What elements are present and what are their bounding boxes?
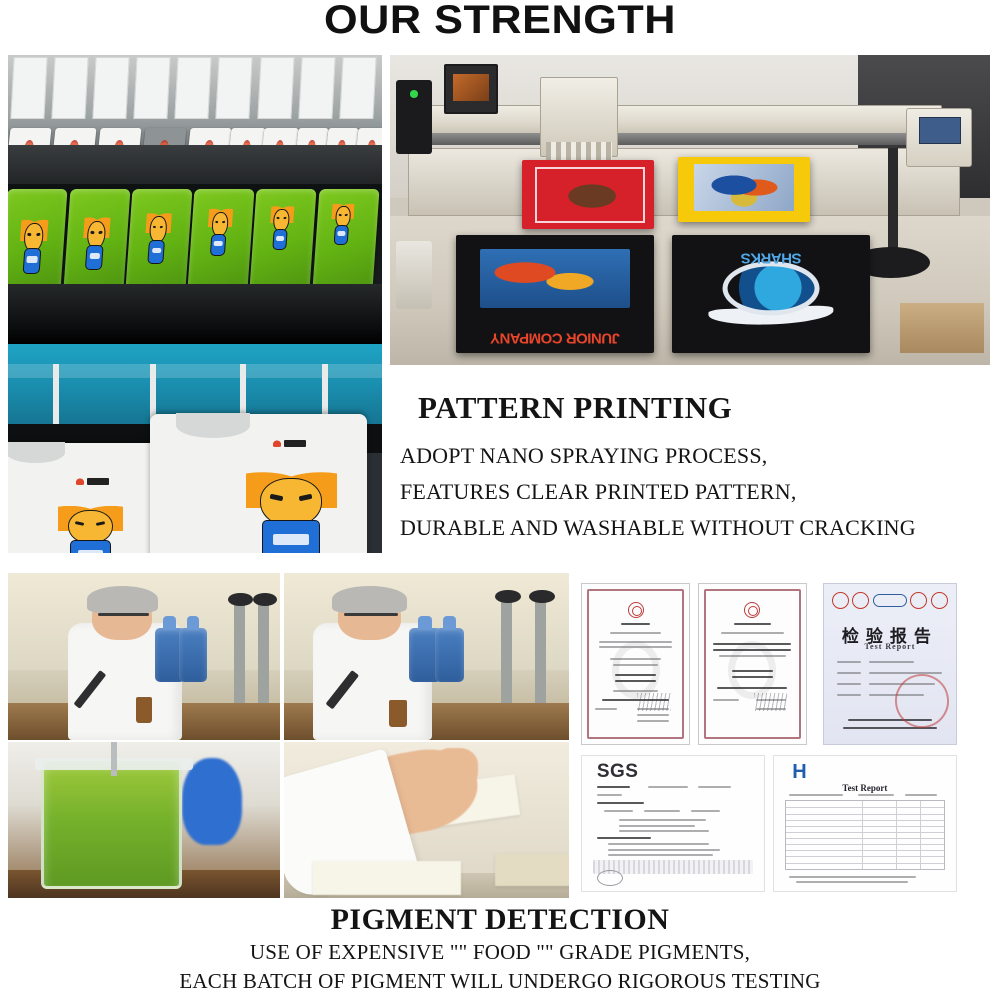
bull-mascot-print <box>143 207 172 265</box>
conveyor-rail-mid <box>8 284 382 344</box>
lab-stand <box>535 596 546 703</box>
pattern-printing-text-block: PATTERN PRINTING ADOPT NANO SPRAYING PRO… <box>400 390 1000 546</box>
accreditation-logos <box>832 592 948 609</box>
green-platen <box>8 189 68 290</box>
lab-photo-right <box>284 573 569 740</box>
brand-logo-print <box>75 477 109 485</box>
operator-tablet-screen <box>444 64 498 114</box>
test-results-table <box>785 800 945 870</box>
green-platen <box>312 189 379 290</box>
dtg-printer-photo: JUNIOR COMPANY SHARKS <box>390 55 990 365</box>
iso-certificate-en <box>698 583 806 746</box>
pigment-detection-heading: PIGMENT DETECTION <box>0 902 1000 938</box>
technician-hair <box>332 586 406 613</box>
report-title-en: Test Report <box>824 642 955 651</box>
green-platen <box>188 189 255 290</box>
blue-equipment-blur <box>182 758 242 845</box>
lab-test-report-h: H Test Report <box>773 755 956 892</box>
lab-photo-left <box>8 573 280 740</box>
eyeglasses-icon <box>344 613 398 616</box>
ink-bucket <box>396 241 432 309</box>
printer-lcd-panel <box>906 108 972 167</box>
sgs-test-report: SGS <box>581 755 764 892</box>
finger <box>432 748 478 789</box>
sample-bottle <box>389 700 406 727</box>
sharks-text: SHARKS <box>705 250 836 267</box>
pigment-detection-text-block: PIGMENT DETECTION USE OF EXPENSIVE "" FO… <box>0 902 1000 996</box>
junior-company-text: JUNIOR COMPANY <box>476 315 634 346</box>
junior-company-artwork <box>480 249 630 308</box>
cal-logo-icon <box>931 592 948 609</box>
stirring-rod <box>111 742 117 776</box>
stand-pole <box>888 148 898 253</box>
fabric-stack <box>495 854 569 885</box>
glass-beaker-with-green-pigment <box>41 761 182 889</box>
quality-certificates-panel: 检验报告 Test Report SGS <box>573 573 990 898</box>
lab-mixer-motor <box>435 628 464 681</box>
control-box <box>396 80 432 154</box>
fabric-stack <box>313 861 461 895</box>
bull-mascot-print <box>58 498 123 553</box>
iso-certificate-cn <box>581 583 689 746</box>
h-lab-logo: H <box>792 761 806 784</box>
stand-knob <box>495 590 521 603</box>
lab-stand <box>501 596 512 703</box>
bull-mascot-print <box>80 211 111 271</box>
cardboard-box <box>900 303 984 353</box>
official-red-stamp-icon <box>890 669 954 733</box>
green-platen-row <box>8 184 382 294</box>
pigment-detection-line-2: EACH BATCH OF PIGMENT WILL UNDERGO RIGOR… <box>0 967 1000 996</box>
stand-knob <box>529 590 555 603</box>
cma-logo-icon <box>910 592 927 609</box>
bull-mascot-print <box>18 213 50 275</box>
printed-shirt-red <box>522 160 654 228</box>
lab-stand <box>234 600 245 704</box>
printer-rail <box>420 133 936 145</box>
printed-shirt-junior-company: JUNIOR COMPANY <box>456 235 654 353</box>
lab-stand <box>258 600 269 704</box>
bull-mascot-print <box>206 203 234 257</box>
pattern-printing-heading: PATTERN PRINTING <box>418 390 1000 426</box>
eyeglasses-icon <box>98 613 150 616</box>
green-platen <box>250 189 317 290</box>
printed-shirt-front <box>8 443 158 553</box>
certification-seal-icon <box>628 602 644 618</box>
page-title: OUR STRENGTH <box>0 0 1000 42</box>
technician-hair <box>87 586 158 613</box>
sgs-seal-icon <box>597 870 623 886</box>
cqc-logo-icon <box>832 592 849 609</box>
bull-mascot-print <box>246 461 337 553</box>
our-strength-page: OUR STRENGTH <box>0 0 1000 1000</box>
brand-logo-print <box>272 439 306 447</box>
printed-shirt-front <box>150 414 367 553</box>
inspection-test-report-cn: 检验报告 Test Report <box>823 583 956 746</box>
bull-mascot-print <box>330 199 355 245</box>
pigment-beaker-photo <box>8 742 280 898</box>
pattern-printing-line-3: DURABLE AND WASHABLE WITHOUT CRACKING <box>400 510 1000 546</box>
production-line-photo <box>8 55 382 553</box>
h-report-title: Test Report <box>774 783 955 793</box>
bull-mascot-print <box>268 201 294 251</box>
cnas-logo-icon <box>873 594 907 607</box>
printed-shirt-sharks: SHARKS <box>672 235 870 353</box>
lab-mixer-motor <box>179 628 206 681</box>
green-platen <box>125 189 192 290</box>
sgs-logo: SGS <box>597 761 639 783</box>
pigment-detection-line-1: USE OF EXPENSIVE "" FOOD "" GRADE PIGMEN… <box>0 938 1000 967</box>
sample-bottle <box>136 697 152 724</box>
printed-shirt-yellow <box>678 157 810 222</box>
ccc-logo-icon <box>852 592 869 609</box>
fabric-handling-photo <box>284 742 569 898</box>
green-platen <box>63 189 130 290</box>
pattern-printing-line-2: FEATURES CLEAR PRINTED PATTERN, <box>400 474 1000 510</box>
certification-seal-icon <box>744 602 760 618</box>
pattern-printing-line-1: ADOPT NANO SPRAYING PROCESS, <box>400 438 1000 474</box>
sharks-artwork: SHARKS <box>700 251 843 326</box>
